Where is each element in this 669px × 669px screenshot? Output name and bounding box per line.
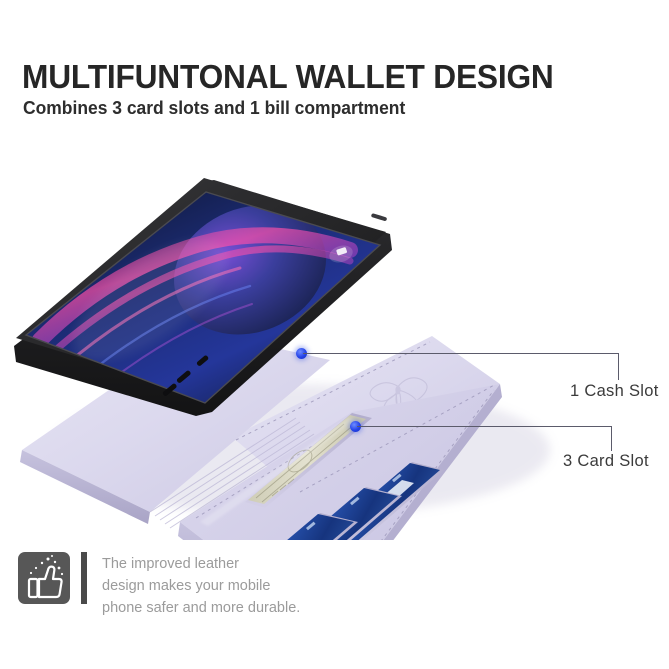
thumbs-up-icon	[18, 552, 70, 604]
page-title: MULTIFUNTONAL WALLET DESIGN	[22, 58, 554, 96]
product-marketing-image: MULTIFUNTONAL WALLET DESIGN Combines 3 c…	[0, 0, 669, 669]
callout-label-card-slot: 3 Card Slot	[563, 452, 649, 471]
footer-note: The improved leather design makes your m…	[18, 552, 300, 619]
callout-leader-line-cash	[303, 353, 618, 354]
product-photo: 10:08 Monday, December 13	[0, 150, 669, 540]
callout-leader-tick-cash	[618, 353, 619, 380]
callout-leader-tick-card	[611, 426, 612, 451]
callout-leader-line-card	[357, 426, 611, 427]
footer-divider	[81, 552, 87, 604]
footer-line-2: design makes your mobile	[102, 575, 300, 597]
callout-label-cash-slot: 1 Cash Slot	[570, 382, 659, 401]
footer-text: The improved leather design makes your m…	[102, 552, 300, 619]
phone-side-button	[371, 213, 387, 222]
footer-line-3: phone safer and more durable.	[102, 597, 300, 619]
footer-line-1: The improved leather	[102, 553, 300, 575]
page-subtitle: Combines 3 card slots and 1 bill compart…	[23, 98, 405, 119]
